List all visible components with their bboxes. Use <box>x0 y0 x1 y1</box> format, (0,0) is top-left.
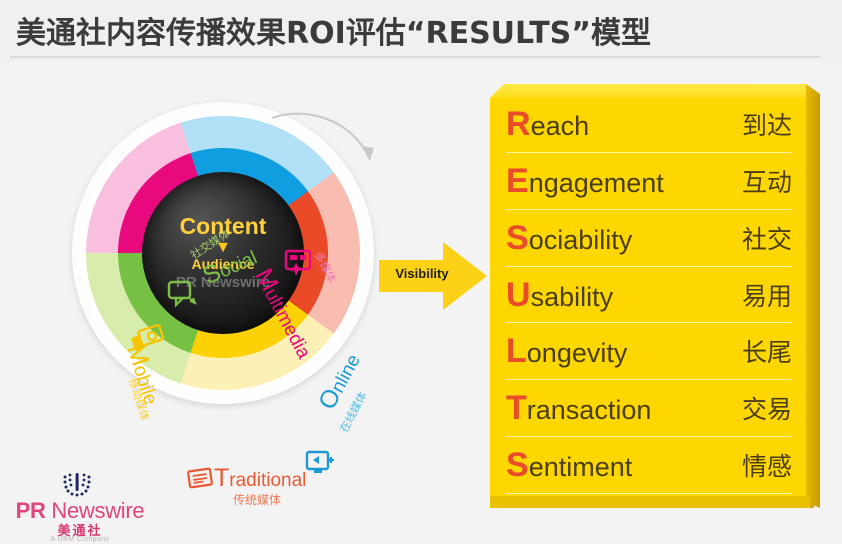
result-cn-longevity: 长尾 <box>732 333 792 369</box>
title-divider <box>10 56 820 58</box>
segment-rest-traditional: raditional <box>229 470 306 491</box>
page-title: 美通社内容传播效果ROI评估“RESULTS”模型 <box>16 8 651 52</box>
result-en-longevity: Longevity <box>506 334 627 368</box>
result-en-usability: Usability <box>506 278 613 312</box>
results-panel-bottom-bevel <box>490 496 810 508</box>
result-row-longevity[interactable]: Longevity 长尾 <box>506 323 792 380</box>
result-row-transaction[interactable]: Transaction 交易 <box>506 380 792 437</box>
results-panel-right-bevel <box>806 84 820 508</box>
visibility-label: Visibility <box>386 266 458 281</box>
segment-label-traditional-cn: 传统媒体 <box>233 491 281 508</box>
results-acronym-list: Reach 到达 Engagement 互动 Sociability 社交 Us… <box>490 96 806 494</box>
center-audience-label: Audience <box>191 257 254 272</box>
segment-cap-online: O <box>313 384 347 414</box>
segment-label-online-cn: 在线媒体 <box>336 389 371 435</box>
result-cn-sociability: 社交 <box>732 220 792 256</box>
mobile-phone-icon <box>130 324 168 358</box>
segment-rest-online: nline <box>327 351 364 396</box>
result-cn-usability: 易用 <box>732 277 792 313</box>
wheel-center-content: Content ▼ Audience PR Newswire <box>142 172 304 334</box>
result-en-engagement: Engagement <box>506 164 664 198</box>
result-row-sentiment[interactable]: Sentiment 情感 <box>506 437 792 494</box>
result-cn-sentiment: 情感 <box>732 447 792 483</box>
result-en-reach: Reach <box>506 107 589 141</box>
media-wheel-diagram: Content ▼ Audience PR Newswire 社交媒体 Soci… <box>66 96 382 418</box>
logo-tagline: A UBM Company <box>10 536 150 543</box>
online-monitor-icon <box>304 448 340 478</box>
result-cn-engagement: 互动 <box>732 163 792 199</box>
newspaper-icon <box>186 466 218 492</box>
result-en-sentiment: Sentiment <box>506 448 632 482</box>
slide-canvas: 美通社内容传播效果ROI评估“RESULTS”模型 Content ▼ Audi… <box>0 0 842 544</box>
result-cn-reach: 到达 <box>732 106 792 142</box>
prnewswire-globe-icon <box>60 470 94 500</box>
result-row-sociability[interactable]: Sociability 社交 <box>506 210 792 267</box>
down-arrow-icon: ▼ <box>215 240 231 256</box>
segment-label-traditional-en: Traditional <box>214 464 306 493</box>
prnewswire-logo: PR Newswire 美通社 A UBM Company <box>10 470 150 540</box>
multimedia-screen-icon <box>283 248 317 280</box>
result-row-usability[interactable]: Usability 易用 <box>506 267 792 324</box>
center-content-label: Content <box>180 214 267 238</box>
result-row-engagement[interactable]: Engagement 互动 <box>506 153 792 210</box>
result-en-transaction: Transaction <box>506 391 651 425</box>
result-en-sociability: Sociability <box>506 221 632 255</box>
result-row-reach[interactable]: Reach 到达 <box>506 96 792 153</box>
result-cn-transaction: 交易 <box>732 390 792 426</box>
title-bar: 美通社内容传播效果ROI评估“RESULTS”模型 <box>0 0 842 62</box>
social-speech-bubble-icon <box>166 278 200 308</box>
